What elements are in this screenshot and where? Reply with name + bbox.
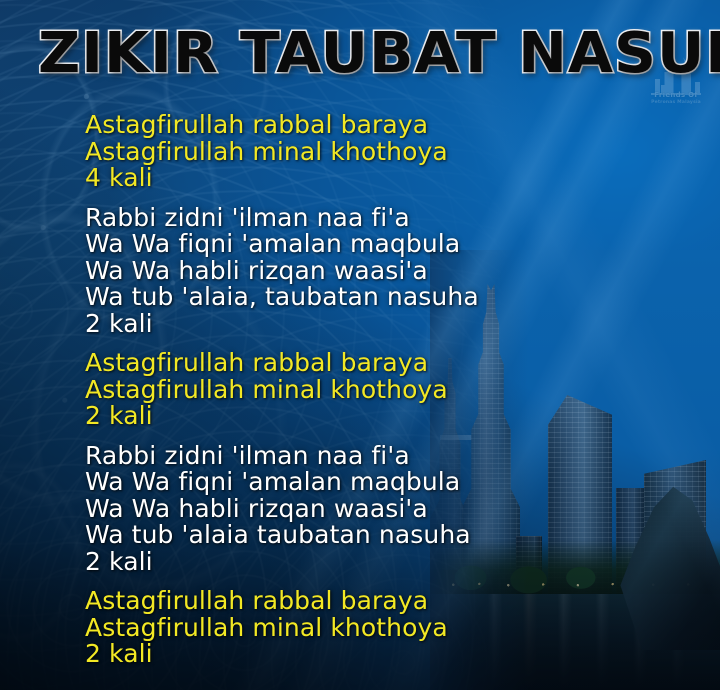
zikir-line: Astagfirullah minal khothoya — [85, 615, 555, 642]
zikir-line: Wa tub 'alaia, taubatan nasuha — [85, 284, 555, 311]
zikir-block: Astagfirullah rabbal barayaAstagfirullah… — [85, 588, 555, 668]
zikir-poster: Friends Of Petronas Malaysia ZIKIR TAUBA… — [0, 0, 720, 690]
zikir-line: Astagfirullah minal khothoya — [85, 377, 555, 404]
zikir-line: Wa Wa habli rizqan waasi'a — [85, 496, 555, 523]
zikir-line: Astagfirullah rabbal baraya — [85, 112, 555, 139]
zikir-block: Rabbi zidni 'ilman naa fi'aWa Wa fiqni '… — [85, 205, 555, 338]
zikir-line: Wa Wa habli rizqan waasi'a — [85, 258, 555, 285]
zikir-line: Astagfirullah minal khothoya — [85, 139, 555, 166]
zikir-line: Wa Wa fiqni 'amalan maqbula — [85, 469, 555, 496]
zikir-block: Rabbi zidni 'ilman naa fi'aWa Wa fiqni '… — [85, 443, 555, 576]
zikir-text-blocks: Astagfirullah rabbal barayaAstagfirullah… — [85, 112, 555, 668]
zikir-line: Wa tub 'alaia taubatan nasuha — [85, 522, 555, 549]
zikir-line: Rabbi zidni 'ilman naa fi'a — [85, 205, 555, 232]
watermark-name: Friends Of — [645, 91, 707, 99]
zikir-line: Astagfirullah rabbal baraya — [85, 350, 555, 377]
zikir-line: Rabbi zidni 'ilman naa fi'a — [85, 443, 555, 470]
poster-title: ZIKIR TAUBAT NASUHA — [38, 26, 720, 82]
zikir-line: 2 kali — [85, 549, 555, 576]
zikir-line: 2 kali — [85, 641, 555, 668]
zikir-block: Astagfirullah rabbal barayaAstagfirullah… — [85, 350, 555, 430]
watermark-subtitle: Petronas Malaysia — [645, 100, 707, 106]
zikir-line: 4 kali — [85, 165, 555, 192]
zikir-line: Wa Wa fiqni 'amalan maqbula — [85, 231, 555, 258]
zikir-block: Astagfirullah rabbal barayaAstagfirullah… — [85, 112, 555, 192]
zikir-line: 2 kali — [85, 403, 555, 430]
zikir-line: Astagfirullah rabbal baraya — [85, 588, 555, 615]
zikir-line: 2 kali — [85, 311, 555, 338]
